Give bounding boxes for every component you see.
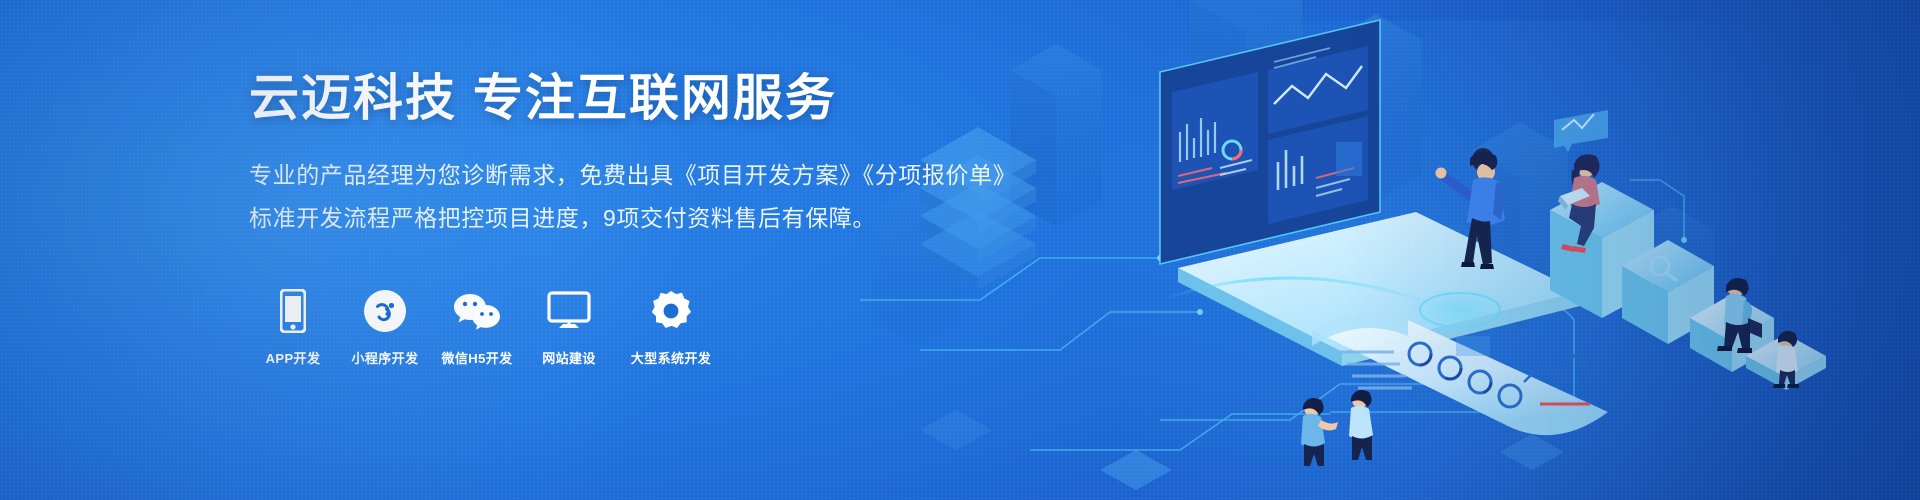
service-label: 网站建设 (542, 348, 596, 367)
service-label: 大型系统开发 (631, 348, 711, 367)
mobile-phone-icon (280, 288, 306, 334)
subtitle-line-2: 标准开发流程严格把控项目进度，9项交付资料售后有保障。 (249, 198, 1249, 239)
chat-bubble (1554, 110, 1608, 152)
conversation-persons (1301, 390, 1373, 466)
gear-icon (650, 288, 692, 334)
service-label: 小程序开发 (351, 348, 418, 367)
service-icon-row: APP开发 小程序开发 (249, 288, 729, 367)
service-item-large-system[interactable]: 大型系统开发 (617, 288, 725, 367)
service-label: APP开发 (266, 348, 321, 367)
page-title: 云迈科技 专注互联网服务 (249, 68, 1249, 129)
service-item-app[interactable]: APP开发 (249, 288, 337, 367)
copy-block: 云迈科技 专注互联网服务 专业的产品经理为您诊断需求，免费出具《项目开发方案》《… (249, 68, 1249, 240)
mini-program-icon (363, 288, 407, 334)
service-item-website[interactable]: 网站建设 (525, 288, 613, 367)
hero-banner: 云迈科技 专注互联网服务 专业的产品经理为您诊断需求，免费出具《项目开发方案》《… (0, 0, 1920, 500)
floating-diamonds (920, 410, 1564, 490)
monitor-icon (547, 288, 591, 334)
wechat-icon (453, 288, 501, 334)
subtitle-line-1: 专业的产品经理为您诊断需求，免费出具《项目开发方案》《分项报价单》 (249, 155, 1249, 196)
service-item-wechat-h5[interactable]: 微信H5开发 (433, 288, 521, 367)
service-item-mini-program[interactable]: 小程序开发 (341, 288, 429, 367)
service-label: 微信H5开发 (441, 348, 512, 367)
